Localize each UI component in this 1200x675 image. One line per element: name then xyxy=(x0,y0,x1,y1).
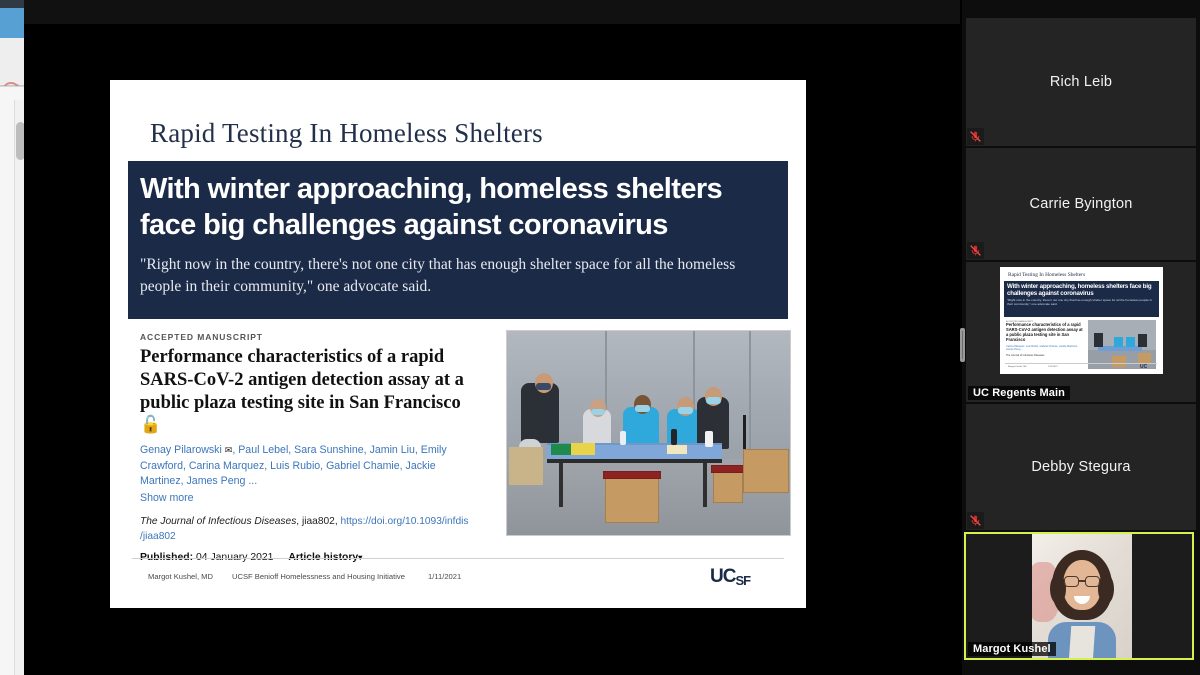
participant-name: Margot Kushel xyxy=(968,642,1056,656)
footer-presenter: Margot Kushel, MD xyxy=(148,572,213,581)
photo-luggage-handle xyxy=(743,415,746,449)
mini-news-block: With winter approaching, homeless shelte… xyxy=(1004,281,1159,317)
participant-rail: Rich Leib Carrie Byington Rapid Testing … xyxy=(962,0,1200,675)
manuscript-status-label: ACCEPTED MANUSCRIPT xyxy=(140,332,470,342)
photo-box-liner xyxy=(603,471,661,479)
photo-mask xyxy=(706,397,721,404)
photo-bottle xyxy=(705,431,713,447)
participant-video xyxy=(1032,534,1132,658)
mini-ucsf-logo: UC xyxy=(1140,364,1147,370)
journal-volume: , jiaa802, xyxy=(296,516,340,527)
photo-mask xyxy=(591,409,605,415)
photo-sanitizer-bottle xyxy=(620,431,626,445)
article-citation: ACCEPTED MANUSCRIPT Performance characte… xyxy=(140,332,470,563)
news-subhead: "Right now in the country, there's not o… xyxy=(140,254,776,299)
news-headline: With winter approaching, homeless shelte… xyxy=(140,171,776,244)
article-authors: Genay Pilarowski ✉, Paul Lebel, Sara Sun… xyxy=(140,443,470,490)
mini-journal: The Journal of Infectious Diseases xyxy=(1006,354,1084,357)
photo-bottle xyxy=(671,429,677,445)
photo-wall-seam xyxy=(749,331,751,459)
participant-name: Carrie Byington xyxy=(966,196,1196,212)
footer-date: 1/11/2021 xyxy=(428,572,461,581)
participant-name: UC Regents Main xyxy=(968,386,1070,400)
mini-article: ACCEPTED MANUSCRIPT Performance characte… xyxy=(1006,321,1084,358)
author-first[interactable]: Genay Pilarowski xyxy=(140,444,222,456)
ucsf-logo: UCSF xyxy=(710,566,750,588)
journal-name: The Journal of Infectious Diseases xyxy=(140,516,296,527)
photo-table-leg xyxy=(703,463,707,507)
microphone-muted-icon[interactable] xyxy=(967,512,984,529)
mini-footer-divider xyxy=(1005,363,1157,364)
doi-link-part2[interactable]: /jiaa802 xyxy=(140,531,176,542)
participant-tile-margot-kushel[interactable]: Margot Kushel xyxy=(964,532,1194,660)
photo-cardboard-box xyxy=(713,471,743,503)
photo-paper xyxy=(667,445,687,454)
footer-organization: UCSF Benioff Homelessness and Housing In… xyxy=(232,572,405,581)
participant-tile-carrie-byington[interactable]: Carrie Byington xyxy=(966,148,1196,260)
mini-footer-date: 1/11/2021 xyxy=(1048,366,1058,368)
photo-folding-chair xyxy=(509,447,543,485)
photo-paper xyxy=(551,444,573,455)
open-access-lock-icon: 🔓 xyxy=(140,415,161,436)
participant-tile-debby-stegura[interactable]: Debby Stegura xyxy=(966,404,1196,530)
news-headline-block: With winter approaching, homeless shelte… xyxy=(128,161,788,319)
participant-tile-uc-regents-main[interactable]: Rapid Testing In Homeless Shelters With … xyxy=(966,262,1196,402)
slide-footer-divider xyxy=(132,558,784,559)
mini-news-headline: With winter approaching, homeless shelte… xyxy=(1007,283,1156,297)
photo-table-leg xyxy=(559,463,563,507)
shared-screen-thumbnail: Rapid Testing In Homeless Shelters With … xyxy=(1000,267,1163,374)
mini-news-subhead: "Right now in the country, there's not o… xyxy=(1007,299,1156,307)
photo-paper xyxy=(571,443,595,455)
ucsf-logo-main: UC xyxy=(710,566,735,587)
photo-mask xyxy=(678,407,693,414)
photo-box-liner xyxy=(711,465,745,473)
participant-name: Rich Leib xyxy=(966,74,1196,90)
participant-glasses-left xyxy=(1064,576,1079,587)
photo-mask xyxy=(536,383,551,390)
mini-photo xyxy=(1088,320,1156,369)
slide-title: Rapid Testing In Homeless Shelters xyxy=(150,118,543,149)
doi-link-part1[interactable]: https://doi.org/10.1093/infdis xyxy=(340,516,468,527)
journal-line: The Journal of Infectious Diseases, jiaa… xyxy=(140,514,470,545)
participant-tile-rich-leib[interactable]: Rich Leib xyxy=(966,18,1196,146)
microphone-muted-icon[interactable] xyxy=(967,242,984,259)
photo-mask xyxy=(635,405,650,412)
photo-table-edge xyxy=(547,459,722,463)
article-title-wrap: Performance characteristics of a rapid S… xyxy=(140,346,470,437)
photo-cardboard-box xyxy=(605,477,659,523)
mini-authors: Carina Marquez, Luis Rubio, Gabriel Cham… xyxy=(1006,345,1084,352)
panel-resize-handle[interactable] xyxy=(960,328,965,362)
photo-cardboard-box xyxy=(743,449,789,493)
covid-testing-site-photo xyxy=(506,330,791,536)
video-conference-window: nk Rapid Testing In Homeless Shelters Wi… xyxy=(0,0,1200,675)
microphone-muted-icon[interactable] xyxy=(967,128,984,145)
presentation-slide: Rapid Testing In Homeless Shelters With … xyxy=(110,80,806,608)
article-title: Performance characteristics of a rapid S… xyxy=(140,347,464,413)
show-more-link[interactable]: Show more xyxy=(140,492,470,504)
mini-footer-presenter: Margot Kushel, MD xyxy=(1008,366,1027,368)
mini-slide-title: Rapid Testing In Homeless Shelters xyxy=(1008,272,1085,278)
ucsf-logo-sub: SF xyxy=(735,573,750,588)
mini-article-title: Performance characteristics of a rapid S… xyxy=(1006,323,1084,343)
participant-glasses-right xyxy=(1085,576,1100,587)
participant-name: Debby Stegura xyxy=(966,459,1196,475)
